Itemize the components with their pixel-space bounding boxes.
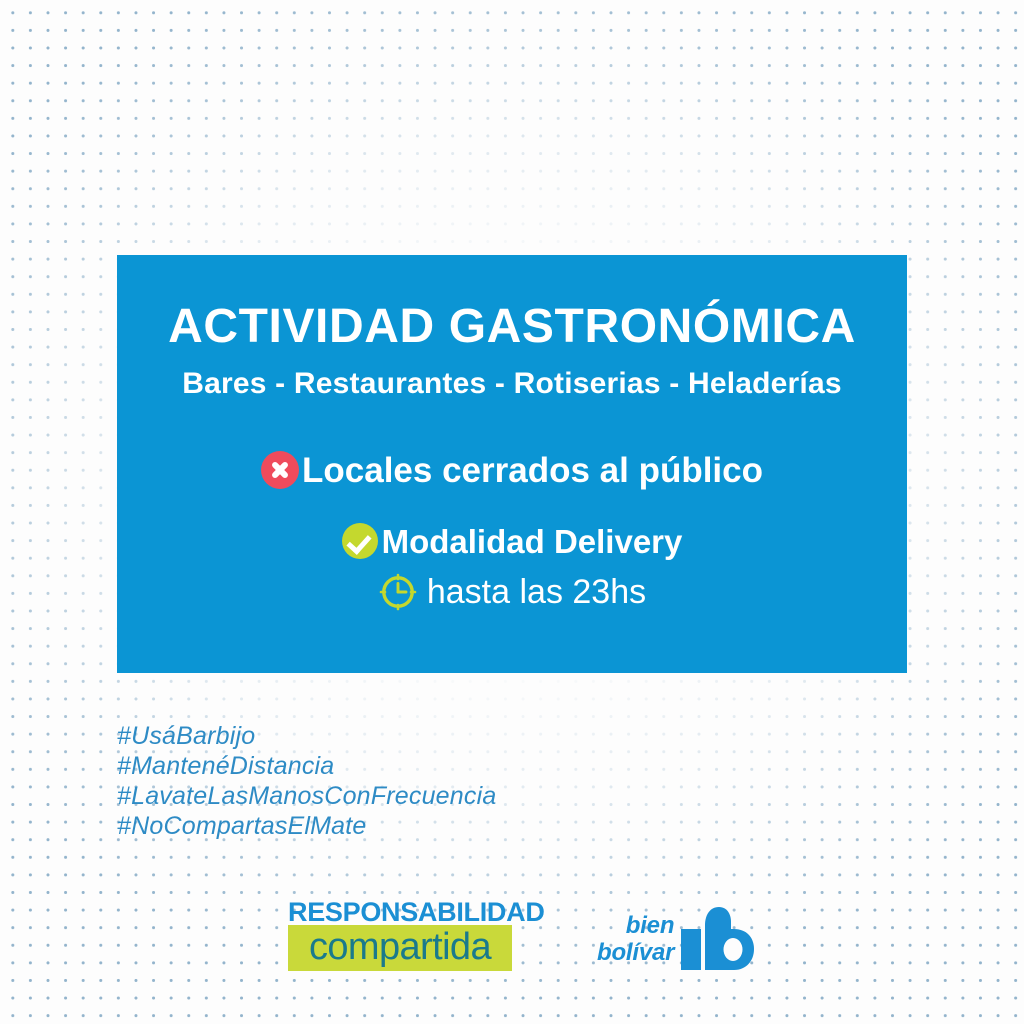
banner-title: ACTIVIDAD GASTRONÓMICA [117,299,907,354]
thumbs-up-b-mark-icon [678,903,756,975]
statement-delivery-label: Modalidad Delivery [382,525,683,558]
bien-bolivar-line2: bolívar [597,939,674,966]
hashtag-item: #MantenéDistancia [117,751,496,781]
bien-bolivar-line1: bien [597,912,674,939]
poster-canvas: ACTIVIDAD GASTRONÓMICA Bares - Restauran… [0,0,1024,1024]
hashtag-list: #UsáBarbijo #MantenéDistancia #LavateLas… [117,721,496,841]
responsabilidad-line2: compartida [288,926,512,968]
statement-closed-to-public: Locales cerrados al público [117,451,907,489]
clock-icon [378,572,418,612]
bien-bolivar-logo: bien bolívar [597,903,756,975]
responsabilidad-compartida-logo: RESPONSABILIDAD compartida [288,897,512,971]
statement-delivery: Modalidad Delivery [117,523,907,559]
statement-hours: hasta las 23hs [117,572,907,612]
footer-logos: RESPONSABILIDAD compartida bien bolívar [0,897,1024,977]
x-circle-icon [261,451,299,489]
hashtag-item: #UsáBarbijo [117,721,496,751]
hashtag-item: #NoCompartasElMate [117,811,496,841]
responsabilidad-highlight-block: compartida [288,925,512,971]
hashtag-item: #LavateLasManosConFrecuencia [117,781,496,811]
statement-closed-label: Locales cerrados al público [302,453,763,488]
check-circle-icon [342,523,378,559]
announcement-banner: ACTIVIDAD GASTRONÓMICA Bares - Restauran… [117,255,907,673]
responsabilidad-line1: RESPONSABILIDAD [288,897,512,927]
statement-hours-label: hasta las 23hs [427,575,646,609]
bien-bolivar-wordmark: bien bolívar [597,912,674,966]
banner-subtitle: Bares - Restaurantes - Rotiserias - Hela… [117,367,907,401]
